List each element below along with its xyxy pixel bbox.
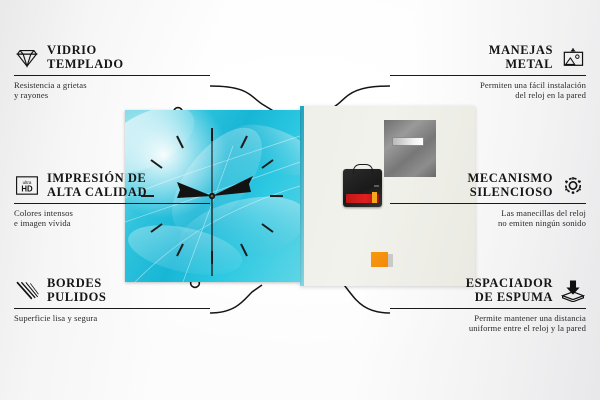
feature-description: Las manecillas del reloj no emiten ningú… [374, 208, 586, 229]
feature-impresion-alta-calidad: ultra HD IMPRESIÓN DE ALTA CALIDAD Color… [14, 172, 226, 228]
hanger-slot [392, 137, 424, 146]
panel-edge [300, 106, 304, 286]
feature-rule [14, 308, 210, 309]
foam-spacer-icon [560, 279, 586, 302]
diamond-icon [14, 46, 40, 69]
feature-title: MANEJAS METAL [489, 44, 553, 71]
feature-description: Resistencia a grietas y rayones [14, 80, 226, 101]
metal-hanger-plate [384, 120, 436, 177]
feature-header: BORDES PULIDOS [14, 277, 226, 304]
infographic-canvas: VIDRIO TEMPLADO Resistencia a grietas y … [0, 0, 600, 400]
feature-description: Permite mantener una distancia uniforme … [374, 313, 586, 334]
feature-description: Superficie lisa y segura [14, 313, 226, 323]
feature-header: MECANISMO SILENCIOSO [374, 172, 586, 199]
feature-rule [390, 75, 586, 76]
feature-header: ultra HD IMPRESIÓN DE ALTA CALIDAD [14, 172, 226, 199]
picture-frame-icon [560, 46, 586, 69]
gear-icon [560, 174, 586, 197]
feature-rule [390, 203, 586, 204]
feature-header: ESPACIADOR DE ESPUMA [374, 277, 586, 304]
feature-title: VIDRIO TEMPLADO [47, 44, 124, 71]
feature-manejas-metal: MANEJAS METAL Permiten una fácil instala… [374, 44, 586, 100]
feature-rule [390, 308, 586, 309]
feature-rule [14, 203, 210, 204]
feature-title: IMPRESIÓN DE ALTA CALIDAD [47, 172, 147, 199]
ultra-hd-icon: ultra HD [14, 174, 40, 197]
feature-header: MANEJAS METAL [374, 44, 586, 71]
feature-mecanismo-silencioso: MECANISMO SILENCIOSO Las manecillas del … [374, 172, 586, 228]
feature-header: VIDRIO TEMPLADO [14, 44, 226, 71]
feature-description: Colores intensos e imagen vívida [14, 208, 226, 229]
polished-edges-icon [14, 279, 40, 302]
feature-rule [14, 75, 210, 76]
mechanism-hook [353, 164, 373, 174]
svg-text:HD: HD [21, 185, 33, 194]
foam-spacer [371, 252, 388, 267]
feature-espaciador-de-espuma: ESPACIADOR DE ESPUMA Permite mantener un… [374, 277, 586, 333]
feature-vidrio-templado: VIDRIO TEMPLADO Resistencia a grietas y … [14, 44, 226, 100]
feature-title: BORDES PULIDOS [47, 277, 106, 304]
feature-title: ESPACIADOR DE ESPUMA [466, 277, 553, 304]
feature-title: MECANISMO SILENCIOSO [467, 172, 553, 199]
feature-description: Permiten una fácil instalación del reloj… [374, 80, 586, 101]
feature-bordes-pulidos: BORDES PULIDOS Superficie lisa y segura [14, 277, 226, 323]
